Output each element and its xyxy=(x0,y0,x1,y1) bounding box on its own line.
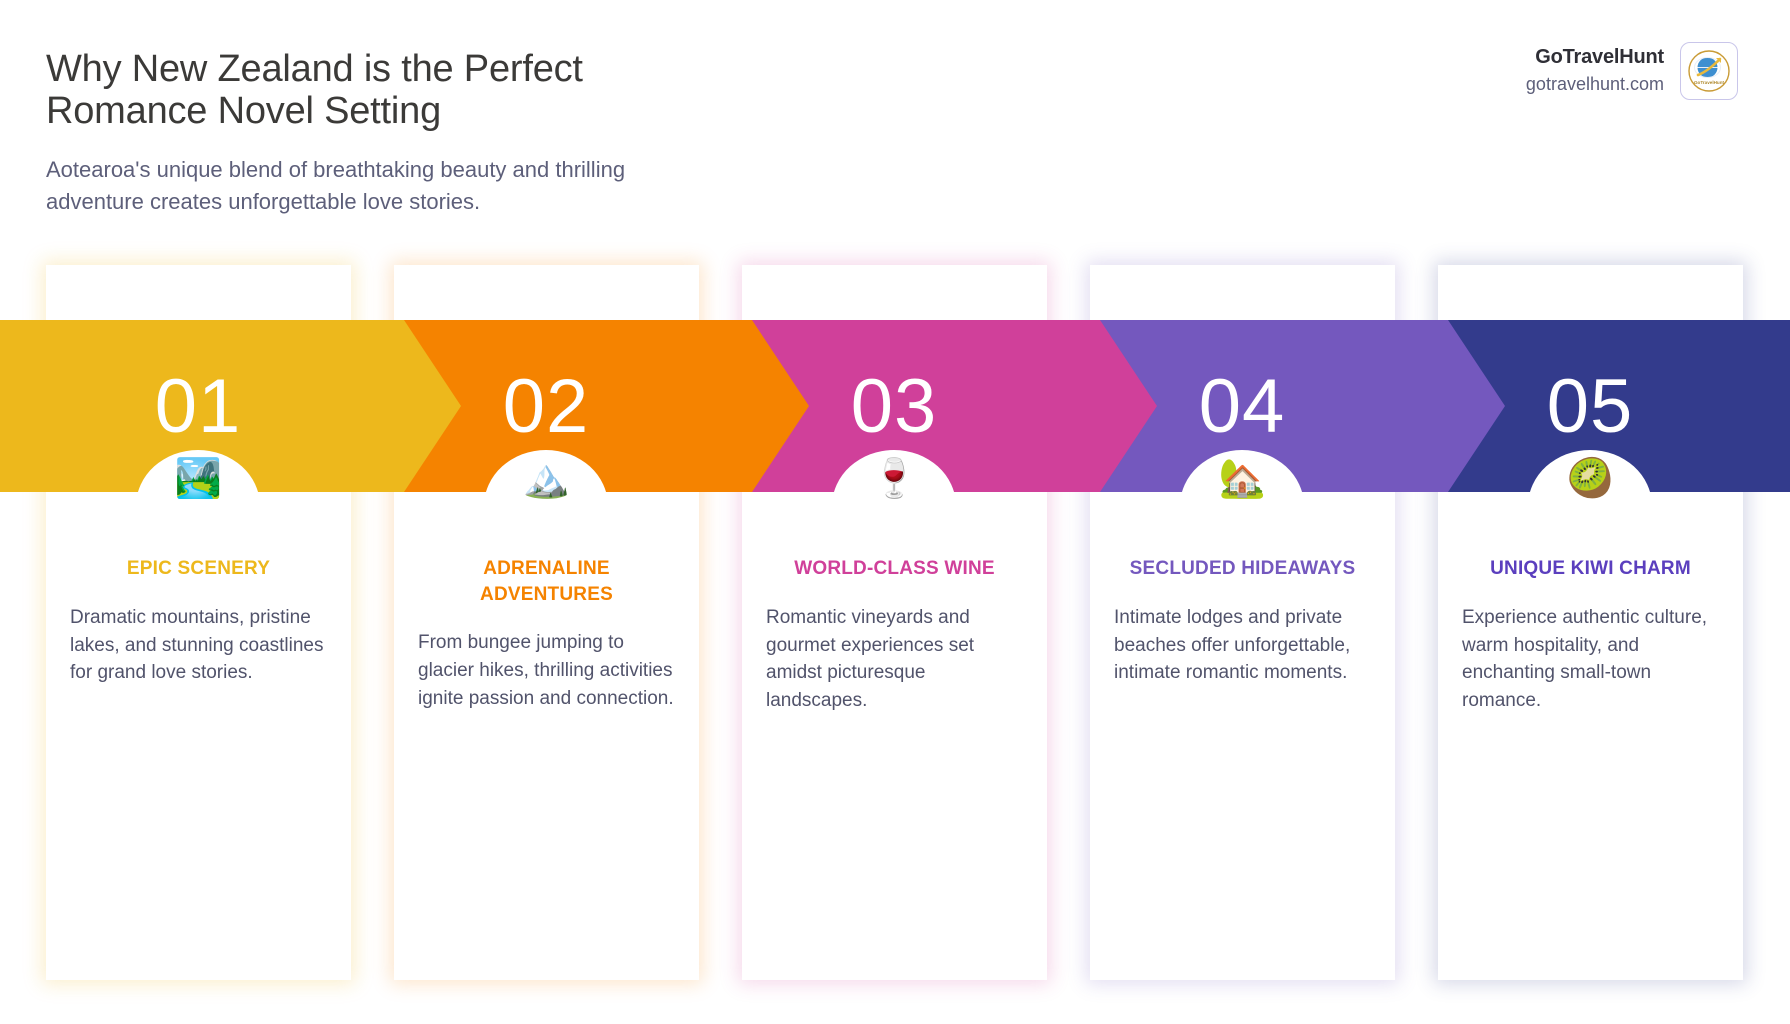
step-card-2[interactable]: 🏔️ ADRENALINE ADVENTURES From bungee jum… xyxy=(394,265,699,980)
national-park-icon: 🏞️ xyxy=(68,460,329,506)
step-card-body: 🏡 SECLUDED HIDEAWAYS Intimate lodges and… xyxy=(1090,460,1395,687)
step-title: SECLUDED HIDEAWAYS xyxy=(1112,556,1373,582)
step-title: ADRENALINE ADVENTURES xyxy=(416,556,677,607)
page-subtitle: Aotearoa's unique blend of breathtaking … xyxy=(46,154,686,216)
brand-block: GoTravelHunt gotravelhunt.com GoTravelHu… xyxy=(1526,42,1738,100)
step-card-body: 🥝 UNIQUE KIWI CHARM Experience authentic… xyxy=(1438,460,1743,715)
page-title: Why New Zealand is the Perfect Romance N… xyxy=(46,48,746,132)
step-card-body: 🏔️ ADRENALINE ADVENTURES From bungee jum… xyxy=(394,460,699,713)
svg-text:GoTravelHunt: GoTravelHunt xyxy=(1694,80,1725,85)
step-description: Dramatic mountains, pristine lakes, and … xyxy=(68,604,329,688)
steps-card-row: 🏞️ EPIC SCENERY Dramatic mountains, pris… xyxy=(0,265,1790,985)
step-card-body: 🏞️ EPIC SCENERY Dramatic mountains, pris… xyxy=(46,460,351,687)
step-title: UNIQUE KIWI CHARM xyxy=(1460,556,1721,582)
snow-mountain-icon: 🏔️ xyxy=(416,460,677,506)
step-description: Experience authentic culture, warm hospi… xyxy=(1460,604,1721,716)
step-description: From bungee jumping to glacier hikes, th… xyxy=(416,629,677,713)
step-card-3[interactable]: 🍷 WORLD-CLASS WINE Romantic vineyards an… xyxy=(742,265,1047,980)
kiwi-fruit-icon: 🥝 xyxy=(1460,460,1721,506)
wine-glass-icon: 🍷 xyxy=(764,460,1025,506)
step-title: WORLD-CLASS WINE xyxy=(764,556,1025,582)
step-card-4[interactable]: 🏡 SECLUDED HIDEAWAYS Intimate lodges and… xyxy=(1090,265,1395,980)
brand-name: GoTravelHunt xyxy=(1526,45,1664,70)
house-with-garden-icon: 🏡 xyxy=(1112,460,1373,506)
brand-url: gotravelhunt.com xyxy=(1526,72,1664,96)
step-card-1[interactable]: 🏞️ EPIC SCENERY Dramatic mountains, pris… xyxy=(46,265,351,980)
infographic-page: Why New Zealand is the Perfect Romance N… xyxy=(0,0,1790,1024)
page-title-line2: Romance Novel Setting xyxy=(46,90,441,132)
brand-logo: GoTravelHunt xyxy=(1680,42,1738,100)
brand-text: GoTravelHunt gotravelhunt.com xyxy=(1526,45,1664,96)
page-title-line1: Why New Zealand is the Perfect xyxy=(46,48,583,90)
globe-arrow-logo-icon: GoTravelHunt xyxy=(1686,48,1732,94)
step-description: Romantic vineyards and gourmet experienc… xyxy=(764,604,1025,716)
step-card-body: 🍷 WORLD-CLASS WINE Romantic vineyards an… xyxy=(742,460,1047,715)
step-title: EPIC SCENERY xyxy=(68,556,329,582)
step-description: Intimate lodges and private beaches offe… xyxy=(1112,604,1373,688)
step-card-5[interactable]: 🥝 UNIQUE KIWI CHARM Experience authentic… xyxy=(1438,265,1743,980)
header: Why New Zealand is the Perfect Romance N… xyxy=(0,0,1790,250)
